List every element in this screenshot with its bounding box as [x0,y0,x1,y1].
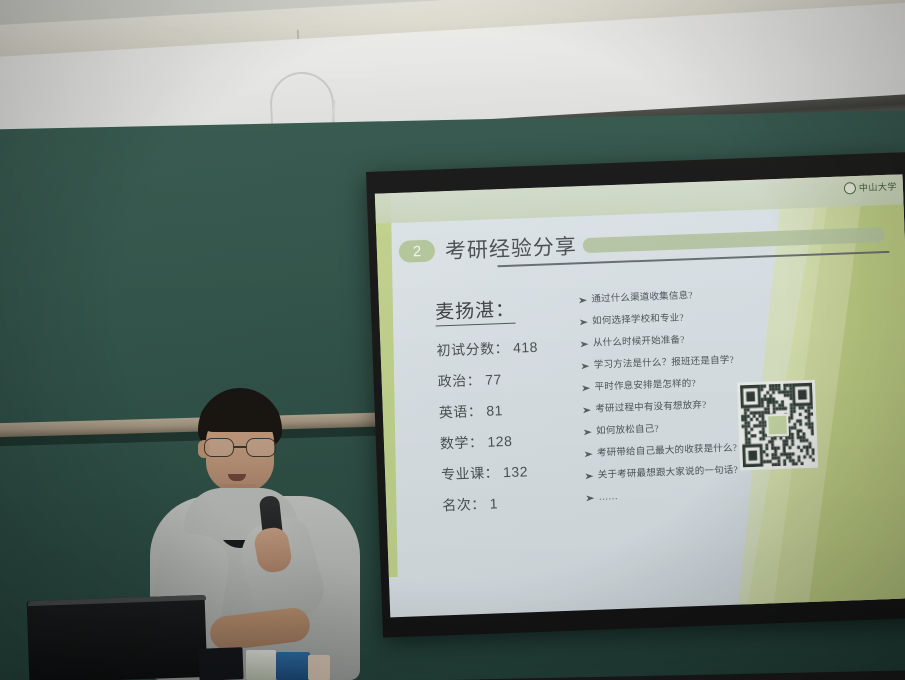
presenter-name: 麦扬湛： [435,295,516,327]
question-text: …… [598,491,618,504]
university-name: 中山大学 [859,180,897,194]
bullet-arrow-icon: ➤ [585,492,595,505]
university-seal-icon [844,182,856,194]
presentation-slide: 中山大学 2 考研经验分享 麦扬湛： 初试分数：418政治：77英语：81数学：… [375,174,905,617]
score-label: 专业课： [441,464,500,482]
question-item: ➤…… [586,485,786,505]
slide-content: 麦扬湛： 初试分数：418政治：77英语：81数学：128专业课：132名次：1… [378,266,905,617]
score-value: 128 [487,433,512,450]
glasses-left-lens [204,438,234,457]
question-text: 考研带给自己最大的收获是什么? [597,443,738,460]
score-value: 77 [485,371,502,388]
classroom-scene: 中山大学 2 考研经验分享 麦扬湛： 初试分数：418政治：77英语：81数学：… [0,0,905,680]
desk-item-d [308,655,330,680]
desk-item-a [198,647,243,680]
score-list: 初试分数：418政治：77英语：81数学：128专业课：132名次：1 [436,335,592,515]
glasses-right-lens [246,438,276,457]
question-item: ➤从什么时候开始准备? [580,331,780,351]
question-text: 从什么时候开始准备? [593,334,685,349]
bullet-arrow-icon: ➤ [578,316,588,329]
desk-item-b [246,650,276,680]
score-value: 418 [513,339,538,356]
qr-center-logo [766,414,789,437]
question-item: ➤通过什么渠道收集信息? [579,287,779,307]
question-text: 如何放松自己? [596,423,659,437]
presenter-hair-front [200,402,280,432]
desk-item-c [276,652,310,680]
glasses-bridge [234,446,246,448]
score-row: 政治：77 [437,366,588,391]
bullet-arrow-icon: ➤ [582,404,592,417]
university-logo: 中山大学 [844,180,897,195]
bullet-arrow-icon: ➤ [581,382,591,395]
qr-code-block [737,380,818,471]
score-label: 数学： [440,434,484,452]
question-text: 考研过程中有没有想放弃? [595,400,706,416]
score-value: 132 [503,463,528,480]
section-number-badge: 2 [399,240,436,263]
title-accent-pill [583,227,885,253]
question-text: 平时作息安排是怎样的? [594,378,696,394]
score-row: 英语：81 [438,397,589,422]
desktop-monitor [27,595,208,680]
score-row: 数学：128 [440,428,591,453]
projection-screen: 中山大学 2 考研经验分享 麦扬湛： 初试分数：418政治：77英语：81数学：… [366,152,905,638]
slide-title: 考研经验分享 [444,230,577,265]
score-label: 政治： [437,372,481,390]
bullet-arrow-icon: ➤ [582,426,592,439]
score-value: 81 [486,402,503,419]
question-text: 如何选择学校和专业? [592,312,684,327]
bullet-arrow-icon: ➤ [583,448,593,461]
question-text: 通过什么渠道收集信息? [591,290,693,306]
profile-column: 麦扬湛： 初试分数：418政治：77英语：81数学：128专业课：132名次：1 [435,292,593,526]
score-row: 初试分数：418 [436,335,587,360]
bullet-arrow-icon: ➤ [580,360,590,373]
score-label: 英语： [439,403,483,421]
question-item: ➤学习方法是什么？报班还是自学? [581,353,781,373]
score-label: 名次： [442,496,486,514]
bullet-arrow-icon: ➤ [584,470,594,483]
question-text: 学习方法是什么？报班还是自学? [594,355,735,372]
bullet-arrow-icon: ➤ [577,294,587,307]
score-value: 1 [489,495,498,511]
qr-code [740,383,815,468]
glasses-icon [204,438,278,458]
score-row: 专业课：132 [441,459,592,484]
score-row: 名次：1 [442,490,593,515]
bullet-arrow-icon: ➤ [579,338,589,351]
question-item: ➤如何选择学校和专业? [579,309,779,329]
score-label: 初试分数： [436,340,509,359]
question-text: 关于考研最想跟大家说的一句话? [598,465,739,482]
